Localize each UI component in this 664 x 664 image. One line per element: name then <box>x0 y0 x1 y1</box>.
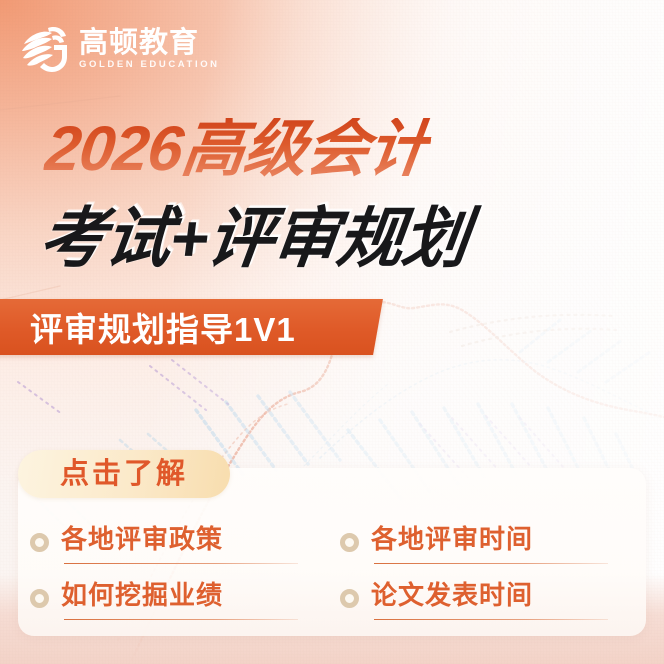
feature-item-label: 各地评审时间 <box>371 526 533 552</box>
feature-item-3[interactable]: 如何挖掘业绩 <box>30 570 314 626</box>
brand-logo: 高顿教育 GOLDEN EDUCATION <box>18 24 220 74</box>
golden-education-globe-g-mark <box>18 24 70 74</box>
promo-poster: 高顿教育 GOLDEN EDUCATION 2026高级会计 考试+评审规划 评… <box>0 0 664 664</box>
brand-name-en: GOLDEN EDUCATION <box>79 60 220 70</box>
feature-item-2[interactable]: 各地评审时间 <box>340 514 624 570</box>
headline-secondary: 考试+评审规划 <box>36 205 472 271</box>
brand-logo-text: 高顿教育 GOLDEN EDUCATION <box>79 29 220 70</box>
feature-item-1[interactable]: 各地评审政策 <box>30 514 314 570</box>
ring-bullet-icon <box>30 533 49 552</box>
brand-name-cn: 高顿教育 <box>79 29 220 58</box>
ribbon-banner-label: 评审规划指导1V1 <box>30 303 390 351</box>
ring-bullet-icon <box>340 589 359 608</box>
cta-button[interactable]: 点击了解 <box>18 450 230 498</box>
cta-button-label: 点击了解 <box>60 460 188 489</box>
feature-item-label: 如何挖掘业绩 <box>61 582 223 608</box>
headline-primary: 2026高级会计 <box>42 118 434 181</box>
feature-item-4[interactable]: 论文发表时间 <box>340 570 624 626</box>
ring-bullet-icon <box>30 589 49 608</box>
feature-list: 各地评审政策 各地评审时间 如何挖掘业绩 论文发表时间 <box>18 508 646 636</box>
ring-bullet-icon <box>340 533 359 552</box>
feature-item-label: 各地评审政策 <box>61 526 223 552</box>
feature-item-label: 论文发表时间 <box>371 582 533 608</box>
